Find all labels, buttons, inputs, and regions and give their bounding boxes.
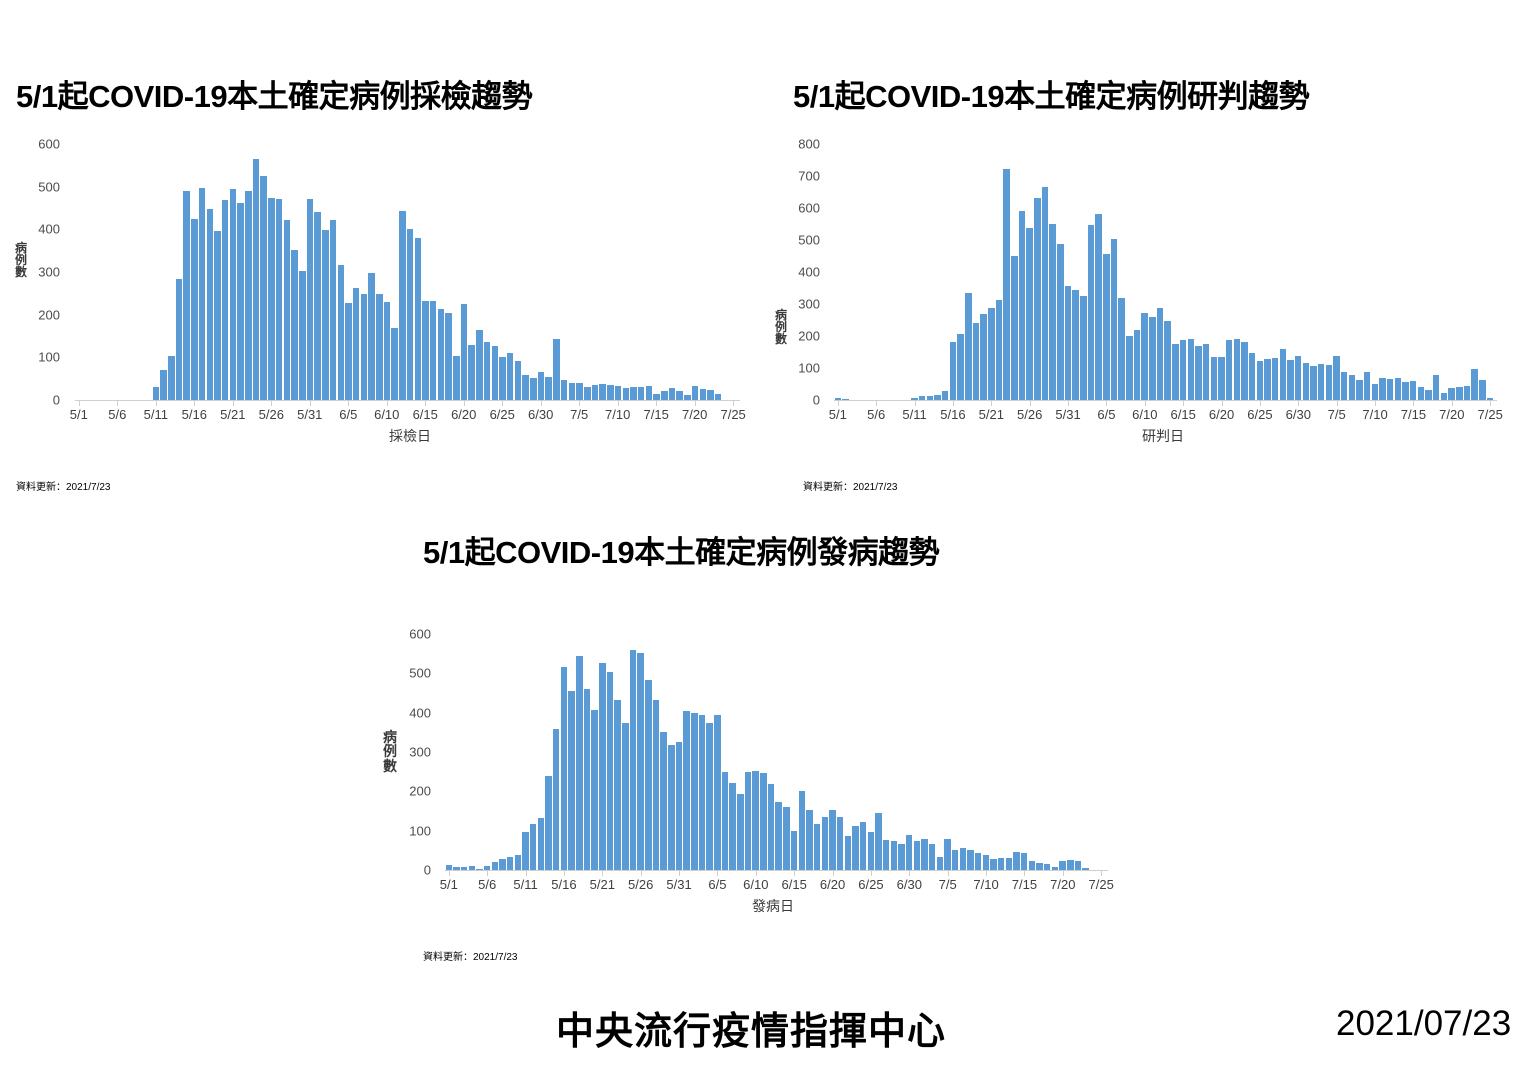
bar bbox=[1180, 340, 1186, 400]
bar bbox=[1249, 353, 1255, 400]
bar bbox=[1026, 228, 1032, 400]
bar bbox=[207, 209, 214, 400]
bar bbox=[937, 857, 943, 870]
bar bbox=[1003, 169, 1009, 400]
y-axis-tick: 0 bbox=[813, 393, 820, 408]
bar bbox=[468, 345, 475, 400]
bar bbox=[875, 813, 881, 870]
x-axis-tickmark bbox=[1375, 401, 1376, 406]
x-axis-tick: 7/25 bbox=[720, 407, 745, 422]
bar bbox=[507, 353, 514, 400]
bar bbox=[160, 370, 167, 400]
bar bbox=[592, 385, 599, 400]
x-axis-tick: 5/31 bbox=[1055, 407, 1080, 422]
bar bbox=[921, 839, 927, 870]
bar bbox=[607, 385, 614, 400]
x-axis-tick: 6/30 bbox=[528, 407, 553, 422]
x-axis-tick: 5/1 bbox=[829, 407, 847, 422]
bar bbox=[530, 378, 537, 400]
bar bbox=[230, 189, 237, 400]
bar bbox=[291, 250, 298, 400]
bar bbox=[1075, 861, 1081, 870]
bar bbox=[199, 188, 206, 400]
y-axis-tick: 600 bbox=[409, 627, 431, 642]
chart-determination-title: 5/1起COVID-19本土確定病例研判趨勢 bbox=[793, 80, 1309, 114]
x-axis-tick: 6/15 bbox=[413, 407, 438, 422]
bar bbox=[996, 300, 1002, 400]
x-axis-tickmark bbox=[1063, 871, 1064, 876]
bar bbox=[176, 279, 183, 400]
bar bbox=[1011, 256, 1017, 400]
x-axis-tick: 6/20 bbox=[451, 407, 476, 422]
x-axis-tick: 6/25 bbox=[858, 877, 883, 892]
chart-onset-bars bbox=[445, 634, 1105, 870]
bar bbox=[814, 824, 820, 870]
bar bbox=[1149, 317, 1155, 400]
y-axis-tick: 100 bbox=[38, 350, 60, 365]
x-axis-tickmark bbox=[271, 401, 272, 406]
bar bbox=[584, 387, 591, 400]
bar bbox=[415, 238, 422, 400]
bar bbox=[1356, 380, 1362, 400]
bar bbox=[1364, 372, 1370, 400]
bar bbox=[191, 219, 198, 400]
x-axis-tick: 7/15 bbox=[644, 407, 669, 422]
bar bbox=[569, 383, 576, 400]
chart-onset-plot-wrap: 病例數 0100200300400500600 5/15/65/115/165/… bbox=[383, 622, 1153, 922]
bar bbox=[630, 650, 636, 870]
bar bbox=[1164, 321, 1170, 400]
x-axis-tick: 6/10 bbox=[374, 407, 399, 422]
chart-sampling-plot-area bbox=[75, 144, 737, 400]
bar bbox=[983, 855, 989, 870]
bar bbox=[284, 220, 291, 400]
bar bbox=[1134, 330, 1140, 400]
bar bbox=[1059, 861, 1065, 870]
bar bbox=[1410, 381, 1416, 400]
bar bbox=[1387, 379, 1393, 400]
bar bbox=[376, 294, 383, 400]
bar bbox=[637, 653, 643, 871]
x-axis-tick: 7/25 bbox=[1089, 877, 1114, 892]
bar bbox=[1448, 388, 1454, 400]
bar bbox=[646, 386, 653, 400]
x-axis-tickmark bbox=[871, 871, 872, 876]
x-axis-tick: 7/15 bbox=[1401, 407, 1426, 422]
bar bbox=[806, 810, 812, 870]
bar bbox=[980, 314, 986, 400]
bar bbox=[1226, 340, 1232, 400]
x-axis-tickmark bbox=[79, 401, 80, 406]
bar bbox=[214, 231, 221, 400]
bar bbox=[1341, 372, 1347, 400]
x-axis-tickmark bbox=[464, 401, 465, 406]
bar bbox=[1471, 369, 1477, 400]
bar bbox=[515, 855, 521, 870]
x-axis-tickmark bbox=[1260, 401, 1261, 406]
bar bbox=[1211, 357, 1217, 400]
bar bbox=[1318, 364, 1324, 400]
bar bbox=[1203, 344, 1209, 400]
bar bbox=[990, 859, 996, 870]
bar bbox=[1395, 378, 1401, 400]
bar bbox=[929, 844, 935, 870]
bar bbox=[1157, 308, 1163, 400]
bar bbox=[1065, 286, 1071, 400]
bar bbox=[967, 850, 973, 870]
bar bbox=[607, 672, 613, 870]
chart-onset-xticks: 5/15/65/115/165/215/265/316/56/106/156/2… bbox=[445, 871, 1105, 889]
bar bbox=[1441, 393, 1447, 400]
x-axis-tick: 6/5 bbox=[1097, 407, 1115, 422]
bar bbox=[399, 211, 406, 400]
x-axis-tickmark bbox=[986, 871, 987, 876]
bar bbox=[660, 732, 666, 870]
x-axis-tick: 6/20 bbox=[820, 877, 845, 892]
y-axis-tick: 100 bbox=[409, 823, 431, 838]
bar bbox=[1095, 214, 1101, 400]
bar bbox=[1218, 357, 1224, 400]
bar bbox=[1349, 375, 1355, 400]
bar bbox=[599, 663, 605, 870]
bar bbox=[952, 850, 958, 870]
chart-sampling-xlabel: 採檢日 bbox=[330, 426, 490, 446]
bar bbox=[307, 199, 314, 400]
x-axis-tickmark bbox=[953, 401, 954, 406]
chart-sampling-ylabel: 病例數 bbox=[14, 242, 28, 279]
bar bbox=[1111, 239, 1117, 400]
bar bbox=[438, 309, 445, 400]
bar bbox=[507, 857, 513, 870]
chart-onset-plot-area bbox=[445, 634, 1105, 870]
x-axis-tick: 5/26 bbox=[259, 407, 284, 422]
x-axis-tickmark bbox=[948, 871, 949, 876]
bar bbox=[260, 176, 267, 400]
bar bbox=[268, 198, 275, 400]
bar bbox=[975, 853, 981, 870]
bar bbox=[691, 713, 697, 870]
x-axis-tick: 7/5 bbox=[1328, 407, 1346, 422]
bar bbox=[676, 742, 682, 870]
bar bbox=[700, 389, 707, 400]
x-axis-tick: 6/30 bbox=[1286, 407, 1311, 422]
x-axis-tickmark bbox=[387, 401, 388, 406]
y-axis-tick: 600 bbox=[38, 137, 60, 152]
bar bbox=[1326, 365, 1332, 400]
bar bbox=[368, 273, 375, 400]
bar bbox=[653, 700, 659, 870]
bar bbox=[1287, 360, 1293, 400]
chart-determination: 5/1起COVID-19本土確定病例研判趨勢 病例數 0100200300400… bbox=[768, 70, 1536, 500]
chart-sampling-bars bbox=[75, 144, 737, 400]
bar bbox=[576, 656, 582, 870]
bar bbox=[1042, 187, 1048, 400]
bar bbox=[183, 191, 190, 400]
x-axis-tick: 5/26 bbox=[1017, 407, 1042, 422]
x-axis-tickmark bbox=[1024, 871, 1025, 876]
y-axis-tick: 200 bbox=[409, 784, 431, 799]
bar bbox=[1021, 853, 1027, 870]
bar bbox=[299, 271, 306, 400]
x-axis-tick: 7/10 bbox=[973, 877, 998, 892]
bar bbox=[973, 323, 979, 400]
bar bbox=[1072, 290, 1078, 400]
bar bbox=[891, 841, 897, 870]
bar bbox=[1036, 863, 1042, 870]
x-axis-tickmark bbox=[991, 401, 992, 406]
chart-determination-source-note: 資料更新：2021/7/23 bbox=[803, 478, 898, 493]
bar bbox=[960, 848, 966, 870]
bar bbox=[345, 303, 352, 400]
bar bbox=[407, 229, 414, 400]
bar bbox=[1141, 313, 1147, 400]
bar bbox=[1057, 244, 1063, 400]
bar bbox=[775, 802, 781, 870]
x-axis-tick: 6/20 bbox=[1209, 407, 1234, 422]
x-axis-tickmark bbox=[1222, 401, 1223, 406]
bar bbox=[683, 711, 689, 870]
bar bbox=[599, 384, 606, 400]
y-axis-tick: 600 bbox=[798, 201, 820, 216]
y-axis-tick: 300 bbox=[798, 297, 820, 312]
y-axis-tick: 500 bbox=[409, 666, 431, 681]
bar bbox=[998, 858, 1004, 870]
x-axis-tickmark bbox=[487, 871, 488, 876]
bar bbox=[729, 783, 735, 870]
x-axis-tickmark bbox=[717, 871, 718, 876]
bar bbox=[676, 391, 683, 400]
chart-determination-plot-area bbox=[834, 144, 1494, 400]
chart-determination-xticks: 5/15/65/115/165/215/265/316/56/106/156/2… bbox=[834, 401, 1494, 419]
x-axis-tick: 5/1 bbox=[440, 877, 458, 892]
x-axis-tick: 5/16 bbox=[551, 877, 576, 892]
bar bbox=[453, 356, 460, 400]
chart-onset: 5/1起COVID-19本土確定病例發病趨勢 病例數 0100200300400… bbox=[383, 530, 1153, 980]
bar bbox=[545, 776, 551, 870]
bar bbox=[1188, 339, 1194, 400]
bar bbox=[1479, 380, 1485, 400]
x-axis-tick: 7/15 bbox=[1012, 877, 1037, 892]
bar bbox=[988, 308, 994, 400]
bar bbox=[391, 328, 398, 400]
bar bbox=[314, 212, 321, 400]
x-axis-tickmark bbox=[502, 401, 503, 406]
bar bbox=[1126, 336, 1132, 400]
x-axis-tickmark bbox=[915, 401, 916, 406]
bar bbox=[898, 844, 904, 870]
x-axis-tick: 6/10 bbox=[1132, 407, 1157, 422]
chart-sampling-title: 5/1起COVID-19本土確定病例採檢趨勢 bbox=[16, 80, 532, 114]
x-axis-tick: 6/30 bbox=[897, 877, 922, 892]
y-axis-tick: 300 bbox=[38, 265, 60, 280]
y-axis-tick: 400 bbox=[798, 265, 820, 280]
chart-determination-xlabel: 研判日 bbox=[1083, 426, 1243, 446]
bar bbox=[914, 841, 920, 870]
bar bbox=[837, 817, 843, 870]
chart-onset-xlabel: 發病日 bbox=[693, 896, 853, 916]
bar bbox=[768, 784, 774, 870]
x-axis-tickmark bbox=[1337, 401, 1338, 406]
bar bbox=[1418, 387, 1424, 400]
bar bbox=[591, 710, 597, 870]
bar bbox=[1118, 298, 1124, 400]
x-axis-tick: 6/25 bbox=[490, 407, 515, 422]
bar bbox=[1019, 211, 1025, 400]
x-axis-tickmark bbox=[695, 401, 696, 406]
y-axis-tick: 200 bbox=[38, 307, 60, 322]
y-axis-tick: 100 bbox=[798, 361, 820, 376]
chart-sampling-yticks: 0100200300400500600 bbox=[28, 132, 64, 400]
bar bbox=[538, 818, 544, 870]
x-axis-tick: 5/11 bbox=[144, 407, 168, 422]
x-axis-tick: 6/15 bbox=[782, 877, 807, 892]
bar bbox=[1241, 342, 1247, 400]
x-axis-tick: 6/10 bbox=[743, 877, 768, 892]
bar bbox=[860, 822, 866, 870]
x-axis-tick: 7/5 bbox=[570, 407, 588, 422]
bar bbox=[1456, 387, 1462, 400]
x-axis-tickmark bbox=[794, 871, 795, 876]
bar bbox=[1195, 346, 1201, 400]
y-axis-tick: 200 bbox=[798, 329, 820, 344]
chart-determination-bars bbox=[834, 144, 1494, 400]
x-axis-tick: 7/20 bbox=[1050, 877, 1075, 892]
bar bbox=[1029, 861, 1035, 870]
chart-onset-yticks: 0100200300400500600 bbox=[399, 622, 435, 870]
bar bbox=[957, 334, 963, 400]
bar bbox=[944, 839, 950, 870]
bar bbox=[1264, 359, 1270, 400]
bar bbox=[461, 304, 468, 400]
chart-sampling-source-note: 資料更新：2021/7/23 bbox=[16, 478, 111, 493]
x-axis-tickmark bbox=[1298, 401, 1299, 406]
x-axis-tick: 5/16 bbox=[182, 407, 207, 422]
bar bbox=[845, 836, 851, 870]
x-axis-tick: 7/25 bbox=[1478, 407, 1503, 422]
bar bbox=[669, 388, 676, 400]
x-axis-tickmark bbox=[876, 401, 877, 406]
bar bbox=[906, 835, 912, 870]
x-axis-tickmark bbox=[156, 401, 157, 406]
bar bbox=[638, 387, 645, 400]
x-axis-tick: 5/21 bbox=[220, 407, 245, 422]
y-axis-tick: 400 bbox=[38, 222, 60, 237]
bar bbox=[1257, 361, 1263, 400]
bar bbox=[1103, 254, 1109, 400]
x-axis-tickmark bbox=[1413, 401, 1414, 406]
bar bbox=[1310, 366, 1316, 400]
bar bbox=[760, 773, 766, 870]
bar bbox=[522, 832, 528, 870]
bar bbox=[476, 330, 483, 400]
x-axis-tickmark bbox=[641, 871, 642, 876]
y-axis-tick: 300 bbox=[409, 745, 431, 760]
x-axis-tick: 5/21 bbox=[979, 407, 1004, 422]
bar bbox=[1088, 225, 1094, 400]
bar bbox=[153, 387, 160, 400]
bar bbox=[538, 372, 545, 400]
bar bbox=[699, 715, 705, 870]
bar bbox=[568, 691, 574, 870]
chart-determination-ylabel: 病例數 bbox=[774, 309, 788, 346]
bar bbox=[1464, 386, 1470, 400]
bar bbox=[245, 191, 252, 400]
bar bbox=[422, 301, 429, 400]
x-axis-tickmark bbox=[579, 401, 580, 406]
y-axis-tick: 500 bbox=[38, 179, 60, 194]
bar bbox=[553, 729, 559, 870]
x-axis-tickmark bbox=[833, 871, 834, 876]
x-axis-tickmark bbox=[756, 871, 757, 876]
bar bbox=[1172, 344, 1178, 400]
chart-sampling: 5/1起COVID-19本土確定病例採檢趨勢 病例數 0100200300400… bbox=[0, 70, 770, 500]
chart-determination-yticks: 0100200300400500600700800 bbox=[788, 132, 824, 400]
bar bbox=[1433, 375, 1439, 400]
bar bbox=[661, 391, 668, 400]
bar bbox=[584, 689, 590, 870]
chart-sampling-xticks: 5/15/65/115/165/215/265/316/56/106/156/2… bbox=[75, 401, 737, 419]
x-axis-tickmark bbox=[526, 871, 527, 876]
y-axis-tick: 500 bbox=[798, 233, 820, 248]
bar bbox=[253, 159, 260, 400]
x-axis-tickmark bbox=[909, 871, 910, 876]
bar bbox=[222, 200, 229, 400]
x-axis-tickmark bbox=[310, 401, 311, 406]
bar bbox=[1295, 356, 1301, 400]
bar bbox=[1280, 349, 1286, 400]
bar bbox=[799, 791, 805, 870]
bar bbox=[737, 794, 743, 870]
bar bbox=[499, 859, 505, 870]
bar bbox=[430, 301, 437, 400]
bar bbox=[1013, 852, 1019, 870]
x-axis-tick: 5/11 bbox=[513, 877, 537, 892]
y-axis-tick: 800 bbox=[798, 137, 820, 152]
bar bbox=[668, 745, 674, 870]
x-axis-tickmark bbox=[117, 401, 118, 406]
bar bbox=[522, 375, 529, 400]
bar bbox=[822, 817, 828, 870]
x-axis-tick: 6/5 bbox=[708, 877, 726, 892]
x-axis-tick: 5/26 bbox=[628, 877, 653, 892]
bar bbox=[829, 810, 835, 870]
bar bbox=[1303, 363, 1309, 400]
x-axis-tick: 5/31 bbox=[666, 877, 691, 892]
bar bbox=[942, 391, 948, 400]
x-axis-tickmark bbox=[618, 401, 619, 406]
chart-onset-ylabel: 病例數 bbox=[382, 730, 398, 773]
x-axis-tickmark bbox=[679, 871, 680, 876]
bar bbox=[237, 203, 244, 400]
bar bbox=[645, 680, 651, 870]
bar bbox=[353, 288, 360, 400]
bar bbox=[707, 390, 714, 400]
footer-date: 2021/07/23 bbox=[1336, 1004, 1511, 1044]
bar bbox=[622, 723, 628, 870]
x-axis-tick: 7/10 bbox=[605, 407, 630, 422]
chart-sampling-plot-wrap: 病例數 0100200300400500600 5/15/65/115/165/… bbox=[0, 132, 770, 432]
x-axis-tickmark bbox=[733, 401, 734, 406]
bar bbox=[492, 862, 498, 870]
bar bbox=[276, 199, 283, 400]
bar bbox=[1333, 356, 1339, 400]
bar bbox=[722, 772, 728, 870]
bar bbox=[1379, 378, 1385, 400]
bar bbox=[752, 771, 758, 870]
x-axis-tick: 7/20 bbox=[682, 407, 707, 422]
bar bbox=[868, 832, 874, 870]
x-axis-tick: 7/5 bbox=[939, 877, 957, 892]
